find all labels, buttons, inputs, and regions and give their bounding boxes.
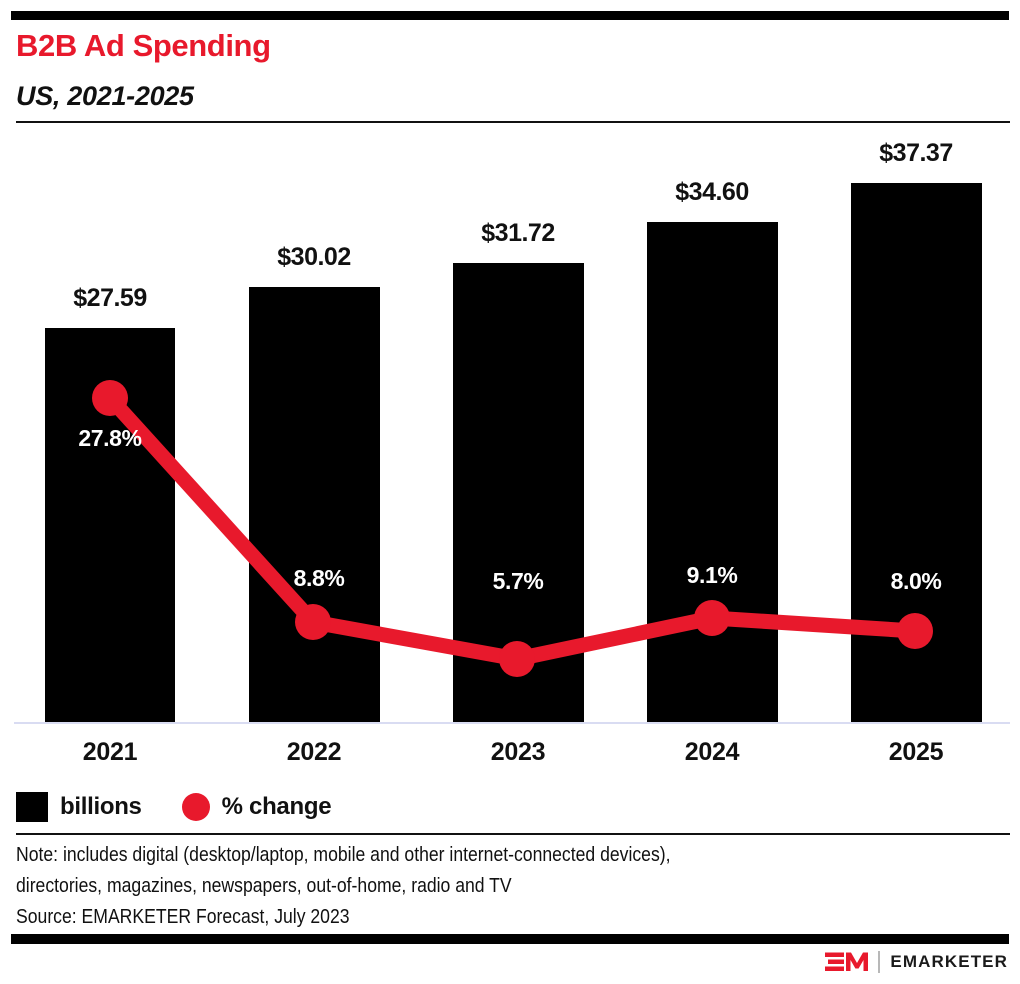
bar-value-label-2021: $27.59 [40, 284, 180, 313]
note-divider [16, 833, 1010, 835]
pct-label-2022: 8.8% [249, 565, 389, 592]
bar-2024 [647, 222, 778, 722]
bar-2021 [45, 328, 175, 722]
axis-baseline [14, 722, 1010, 724]
x-axis-label-2022: 2022 [244, 738, 384, 767]
x-axis-label-2025: 2025 [846, 738, 986, 767]
square-swatch-icon [16, 792, 48, 822]
x-axis-label-2024: 2024 [642, 738, 782, 767]
em-logo-icon [825, 951, 869, 973]
pct-label-2025: 8.0% [846, 568, 986, 595]
note-line-1: Note: includes digital (desktop/laptop, … [16, 840, 891, 871]
bar-2025 [851, 183, 982, 722]
chart-page: B2B Ad Spending US, 2021-2025 $27.59 $30… [0, 0, 1020, 984]
pct-label-2023: 5.7% [448, 568, 588, 595]
footnotes: Note: includes digital (desktop/laptop, … [16, 840, 1010, 933]
legend-label-pct-change: % change [222, 793, 332, 821]
bar-2022 [249, 287, 380, 722]
brand-logo: EMARKETER [825, 949, 1008, 975]
legend-item-billions: billions [16, 792, 142, 822]
x-axis-label-2021: 2021 [40, 738, 180, 767]
pct-label-2021: 27.8% [40, 425, 180, 452]
note-line-2: directories, magazines, newspapers, out-… [16, 871, 891, 902]
x-axis-label-2023: 2023 [448, 738, 588, 767]
circle-swatch-icon [182, 793, 210, 821]
pct-label-2024: 9.1% [642, 562, 782, 589]
source-line: Source: EMARKETER Forecast, July 2023 [16, 902, 891, 933]
plot-area: $27.59 $30.02 $31.72 $34.60 $37.37 27.8%… [0, 0, 1020, 740]
brand-divider [878, 951, 880, 973]
bottom-rule [11, 934, 1009, 944]
legend-label-billions: billions [60, 793, 142, 821]
bar-value-label-2022: $30.02 [244, 243, 384, 272]
legend-item-pct-change: % change [182, 793, 332, 821]
bar-value-label-2025: $37.37 [846, 139, 986, 168]
brand-wordmark: EMARKETER [890, 952, 1008, 972]
bar-value-label-2024: $34.60 [642, 178, 782, 207]
bar-2023 [453, 263, 584, 722]
chart-legend: billions % change [16, 790, 331, 824]
bar-value-label-2023: $31.72 [448, 219, 588, 248]
